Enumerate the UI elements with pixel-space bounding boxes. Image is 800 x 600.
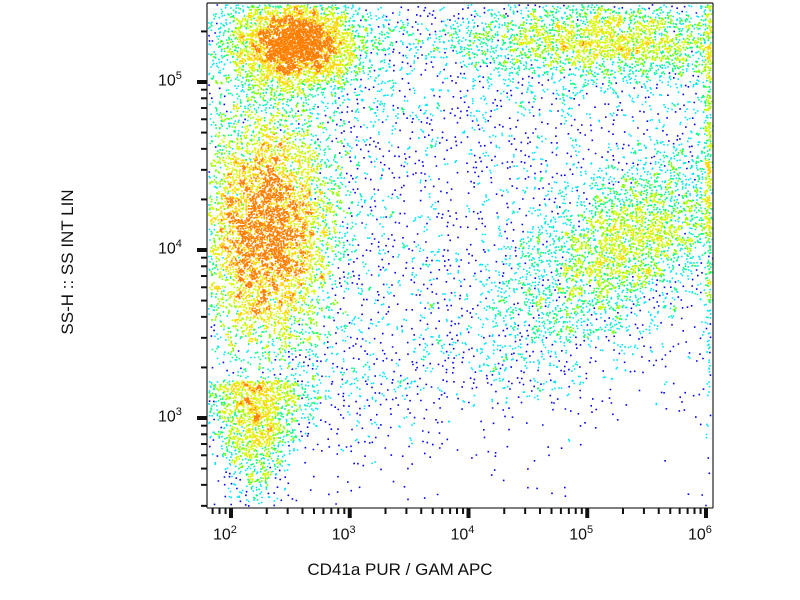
y-tick-label-1000: 103	[158, 406, 182, 426]
x-tick-label-1000: 103	[332, 524, 356, 544]
flow-cytometry-plot: CD41a PUR / GAM APC SS-H :: SS INT LIN 1…	[0, 0, 800, 600]
y-axis-title: SS-H :: SS INT LIN	[58, 132, 78, 392]
y-tick-label-10000: 104	[158, 238, 182, 258]
y-tick-label-100000: 105	[158, 70, 182, 90]
x-tick-label-100: 102	[213, 524, 237, 544]
x-tick-label-10000: 104	[451, 524, 475, 544]
x-axis-title: CD41a PUR / GAM APC	[0, 560, 800, 580]
scatter-canvas	[0, 0, 800, 600]
x-tick-label-1000000: 106	[688, 524, 712, 544]
x-tick-label-100000: 105	[569, 524, 593, 544]
